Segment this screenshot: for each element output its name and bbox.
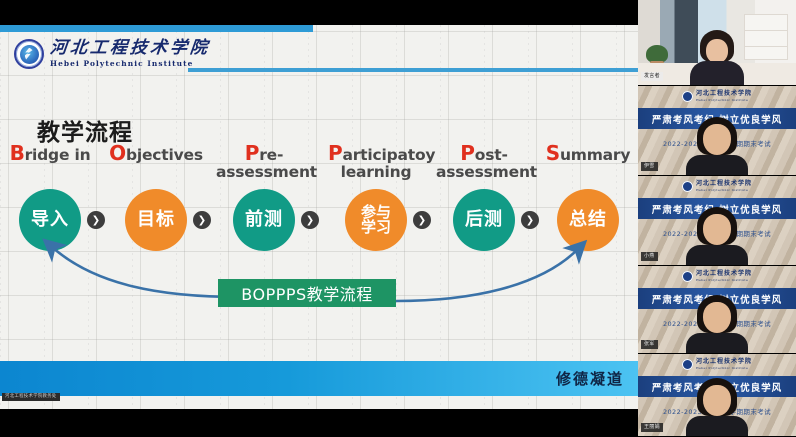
flow-step-2: Objectives目标 bbox=[108, 143, 204, 164]
flow-step-label-en: Bridge in bbox=[2, 143, 98, 164]
exam-slide-logo: 河北工程技术学院Hebei Polytechnic Institute bbox=[682, 271, 752, 282]
participant-name-label: 张军 bbox=[641, 340, 658, 349]
flow-step-3: Pre-assessment前测 bbox=[216, 143, 312, 181]
participant-name-label: 伊雪 bbox=[641, 162, 658, 171]
exam-slide-logo: 河北工程技术学院Hebei Polytechnic Institute bbox=[682, 91, 752, 102]
participant-tile[interactable]: 河北工程技术学院Hebei Polytechnic Institute严肃考风考… bbox=[638, 266, 796, 354]
university-seal-icon bbox=[682, 181, 693, 192]
flow-step-label-en: Objectives bbox=[108, 143, 204, 164]
header-bar-secondary bbox=[188, 68, 638, 72]
boppps-label: BOPPPS教学流程 bbox=[218, 279, 396, 307]
exam-slide-logo: 河北工程技术学院Hebei Polytechnic Institute bbox=[682, 181, 752, 192]
slide-footer: 修德凝道 bbox=[0, 361, 638, 396]
participant-tile[interactable]: 河北工程技术学院Hebei Polytechnic Institute严肃考风考… bbox=[638, 176, 796, 266]
flow-step-label-en: Post-assessment bbox=[436, 143, 532, 181]
flow-step-1: Bridge in导入 bbox=[2, 143, 98, 164]
university-seal-icon bbox=[14, 39, 44, 69]
university-seal-icon bbox=[682, 91, 693, 102]
participant-figure bbox=[689, 33, 745, 85]
university-seal-icon bbox=[682, 359, 693, 370]
slide-watermark: 河北工程技术学院教务处 bbox=[2, 393, 60, 401]
footer-motto: 修德凝道 bbox=[556, 368, 624, 389]
flow-step-label-en: Participatoylearning bbox=[328, 143, 424, 181]
presentation-slide: 河北工程技术学院 Hebei Polytechnic Institute 教学流… bbox=[0, 25, 638, 409]
flow-step-label-en: Pre-assessment bbox=[216, 143, 312, 181]
participant-figure bbox=[686, 117, 748, 175]
participant-figure bbox=[686, 207, 748, 265]
flow-step-label-en: Summary bbox=[540, 143, 636, 164]
institution-name-cn: 河北工程技术学院 bbox=[49, 40, 211, 57]
university-seal-icon bbox=[682, 271, 693, 282]
participant-figure bbox=[686, 295, 748, 353]
participant-name-label: 小燕 bbox=[641, 252, 658, 261]
flow-step-5: Post-assessment后测 bbox=[436, 143, 532, 181]
institution-name-en: Hebei Polytechnic Institute bbox=[50, 60, 210, 67]
shelf-object bbox=[744, 14, 788, 60]
video-feed: 河北工程技术学院Hebei Polytechnic Institute严肃考风考… bbox=[638, 266, 796, 353]
participant-name-label: 发言者 bbox=[641, 72, 663, 81]
participant-name-label: 王丽娟 bbox=[641, 423, 663, 432]
institution-logo: 河北工程技术学院 Hebei Polytechnic Institute bbox=[14, 39, 210, 69]
participant-tile[interactable]: 河北工程技术学院Hebei Polytechnic Institute严肃考风考… bbox=[638, 354, 796, 437]
participant-tile[interactable]: 河北工程技术学院Hebei Polytechnic Institute严肃考风考… bbox=[638, 86, 796, 176]
participant-tile[interactable]: 发言者 bbox=[638, 0, 796, 86]
participant-filmstrip[interactable]: 发言者河北工程技术学院Hebei Polytechnic Institute严肃… bbox=[638, 0, 796, 437]
shared-screen-viewport[interactable]: 河北工程技术学院 Hebei Polytechnic Institute 教学流… bbox=[0, 0, 638, 437]
video-feed: 河北工程技术学院Hebei Polytechnic Institute严肃考风考… bbox=[638, 86, 796, 175]
flow-step-4: Participatoylearning参与学习 bbox=[328, 143, 424, 181]
video-feed: 河北工程技术学院Hebei Polytechnic Institute严肃考风考… bbox=[638, 176, 796, 265]
header-bar-primary bbox=[0, 25, 313, 32]
meeting-screen: 河北工程技术学院 Hebei Polytechnic Institute 教学流… bbox=[0, 0, 796, 437]
participant-figure bbox=[686, 378, 748, 436]
flow-step-6: Summary总结 bbox=[540, 143, 636, 164]
exam-slide-logo: 河北工程技术学院Hebei Polytechnic Institute bbox=[682, 359, 752, 370]
